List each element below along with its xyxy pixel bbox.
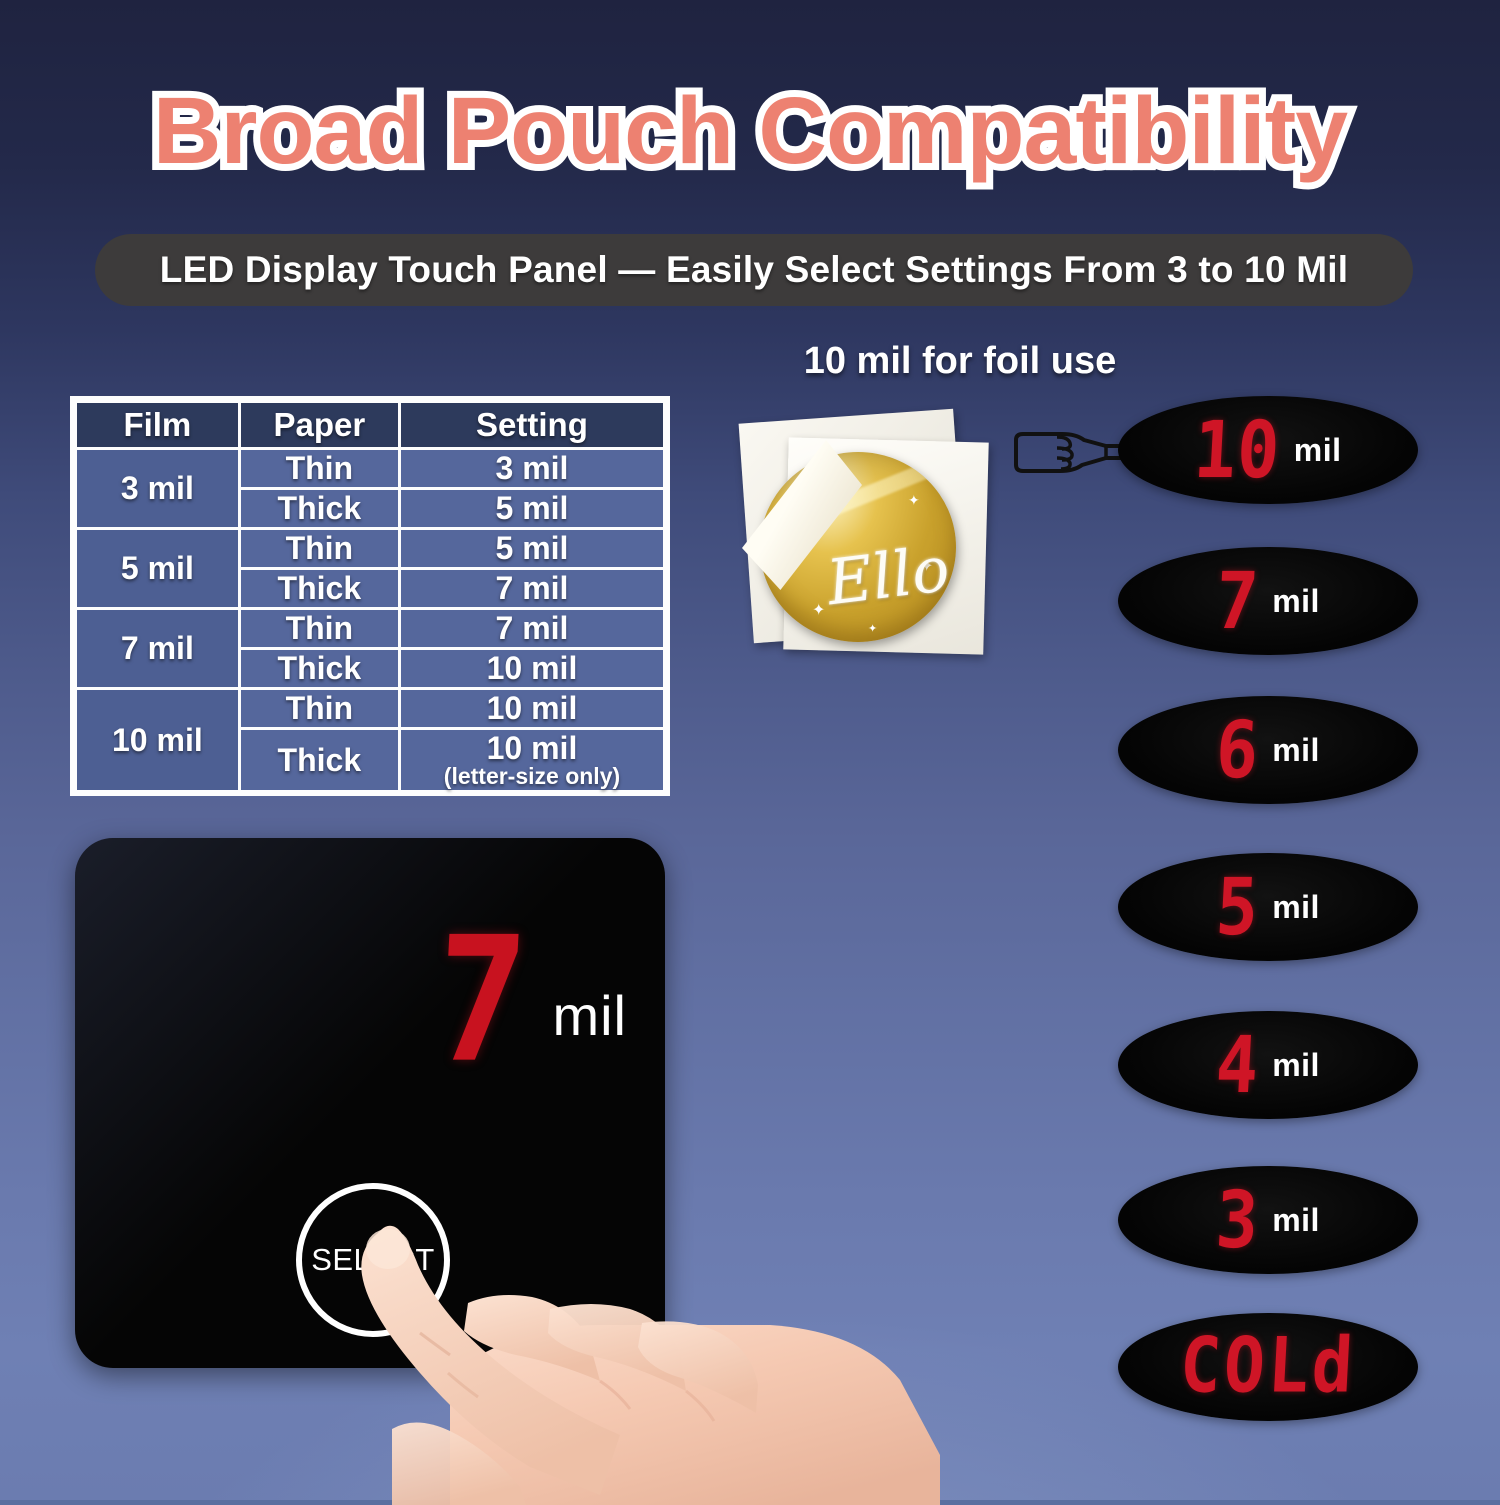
cell-film: 5 mil [76,529,240,609]
cell-paper: Thick [239,649,399,689]
pointing-hand-icon [1010,425,1135,480]
cell-setting: 10 mil [399,649,664,689]
led-pill-6mil[interactable]: 6 mil [1118,696,1418,804]
cell-paper: Thin [239,529,399,569]
cell-paper: Thin [239,689,399,729]
cell-setting: 3 mil [399,449,664,489]
led-pill-4mil[interactable]: 4 mil [1118,1011,1418,1119]
led-unit: mil [1294,432,1342,469]
foil-script-text: Ello [824,543,955,642]
led-pill-cold[interactable]: COLd [1118,1313,1418,1421]
led-digit: 6 [1214,711,1261,789]
panel-display-unit: mil [552,983,627,1048]
led-pill-5mil[interactable]: 5 mil [1118,853,1418,961]
led-unit: mil [1272,583,1320,620]
cell-setting: 7 mil [399,569,664,609]
led-unit: mil [1272,889,1320,926]
foil-sample-photo: ✦ ✦ ✦ ✦ ✦ Ello [738,400,1018,665]
col-header-setting: Setting [399,402,664,449]
cell-paper: Thick [239,729,399,792]
col-header-film: Film [76,402,240,449]
cell-setting-note: (letter-size only) [401,763,663,790]
led-digit: 3 [1214,1181,1261,1259]
table-row: 7 mil Thin 7 mil [76,609,665,649]
table-header-row: Film Paper Setting [76,402,665,449]
panel-display: 7 mil [436,938,627,1064]
cell-film: 10 mil [76,689,240,792]
foil-caption: 10 mil for foil use [700,340,1220,383]
led-digit: 10 [1192,411,1282,489]
panel-display-value: 7 [432,929,530,1074]
cell-setting-value: 10 mil [487,730,578,766]
led-digit: 7 [1214,562,1261,640]
led-unit: mil [1272,732,1320,769]
led-digit: 4 [1214,1026,1261,1104]
led-pill-10mil[interactable]: 10 mil [1118,396,1418,504]
page-title: Broad Pouch Compatibility [0,84,1500,179]
led-unit: mil [1272,1202,1320,1239]
compatibility-table: Film Paper Setting 3 mil Thin 3 mil Thic… [70,396,670,796]
table-row: 10 mil Thin 10 mil [76,689,665,729]
led-digit: 5 [1214,868,1261,946]
subtitle-text: LED Display Touch Panel — Easily Select … [160,249,1348,291]
col-header-paper: Paper [239,402,399,449]
led-pill-7mil[interactable]: 7 mil [1118,547,1418,655]
cell-setting: 7 mil [399,609,664,649]
cell-paper: Thick [239,489,399,529]
subtitle-banner: LED Display Touch Panel — Easily Select … [95,234,1413,306]
table-row: 3 mil Thin 3 mil [76,449,665,489]
hand-pressing-select-illustration [300,1205,940,1505]
cell-paper: Thick [239,569,399,609]
sparkle-icon: ✦ [812,600,825,620]
cell-setting: 10 mil [399,689,664,729]
cell-setting: 10 mil (letter-size only) [399,729,664,792]
cell-paper: Thin [239,609,399,649]
cell-film: 3 mil [76,449,240,529]
cell-film: 7 mil [76,609,240,689]
sparkle-icon: ✦ [908,492,920,509]
cell-setting: 5 mil [399,529,664,569]
cell-setting: 5 mil [399,489,664,529]
led-unit: mil [1272,1047,1320,1084]
table-row: 5 mil Thin 5 mil [76,529,665,569]
led-digit: COLd [1178,1329,1358,1405]
cell-paper: Thin [239,449,399,489]
led-pill-3mil[interactable]: 3 mil [1118,1166,1418,1274]
